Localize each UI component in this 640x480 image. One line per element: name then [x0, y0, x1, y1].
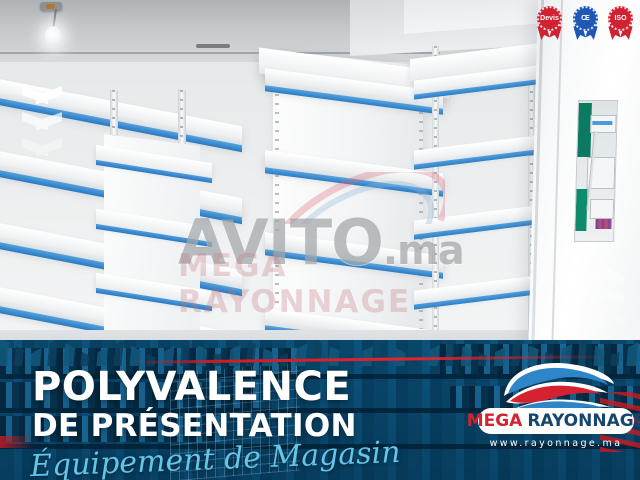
- electrical-panel-icon: [574, 100, 618, 242]
- iso-badge-red: ISO: [607, 6, 634, 40]
- swoosh-wave-icon: [498, 358, 618, 414]
- chevron-down-icon: [590, 316, 624, 332]
- chevron-up-icon: [22, 86, 62, 105]
- ce-badge-blue: CE: [572, 6, 599, 40]
- hanging-bulb-icon: [45, 26, 61, 46]
- ceiling-vent: [196, 44, 230, 48]
- banner-title: POLYVALENCE: [32, 368, 351, 407]
- logo-brand-second: RAYONNAGE: [527, 411, 640, 431]
- chevron-up-icon: [22, 138, 62, 157]
- promo-banner: POLYVALENCE DE PRÉSENTATION Équipement d…: [0, 340, 640, 480]
- red-splatter: [0, 436, 34, 448]
- advertisement-image: AVITO.ma MEGA RAYONNAGE Devis CE ISO: [0, 0, 640, 480]
- logo-website-url: www.rayonnage.ma: [478, 438, 634, 449]
- chevron-up-icon: [22, 112, 62, 131]
- bulb-mount: [40, 2, 62, 11]
- logo-nameplate: MEGA RAYONNAGE: [478, 408, 634, 434]
- upright-perforations: [275, 58, 279, 344]
- mega-rayonnage-logo: MEGA RAYONNAGE www.rayonnage.ma: [478, 358, 634, 470]
- mid-gondola: [96, 140, 216, 340]
- logo-brand-first: MEGA: [467, 411, 523, 431]
- quality-badge-red: Devis: [536, 6, 563, 40]
- certification-badges: Devis CE ISO: [536, 6, 634, 42]
